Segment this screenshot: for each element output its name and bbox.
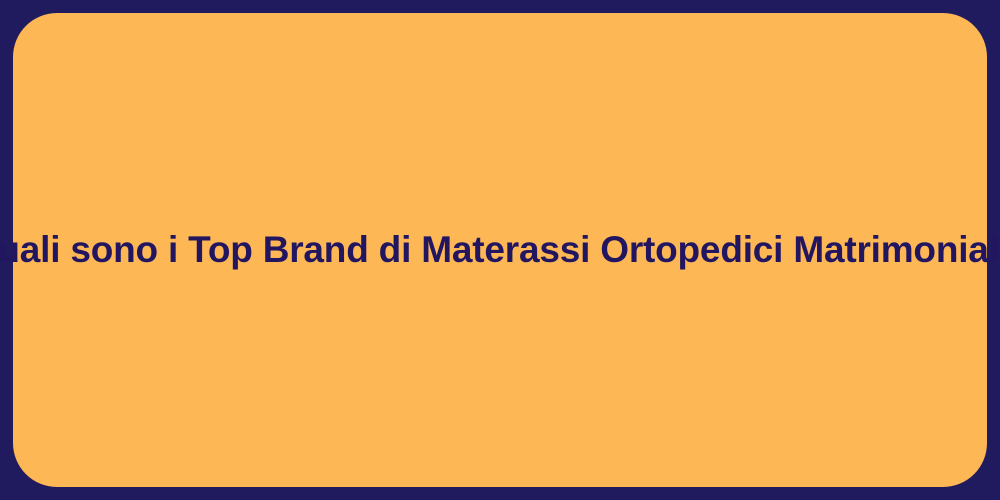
card-frame: Quali sono i Top Brand di Materassi Orto… xyxy=(0,0,1000,500)
card-panel: Quali sono i Top Brand di Materassi Orto… xyxy=(13,13,987,487)
card-heading: Quali sono i Top Brand di Materassi Orto… xyxy=(0,226,1000,273)
